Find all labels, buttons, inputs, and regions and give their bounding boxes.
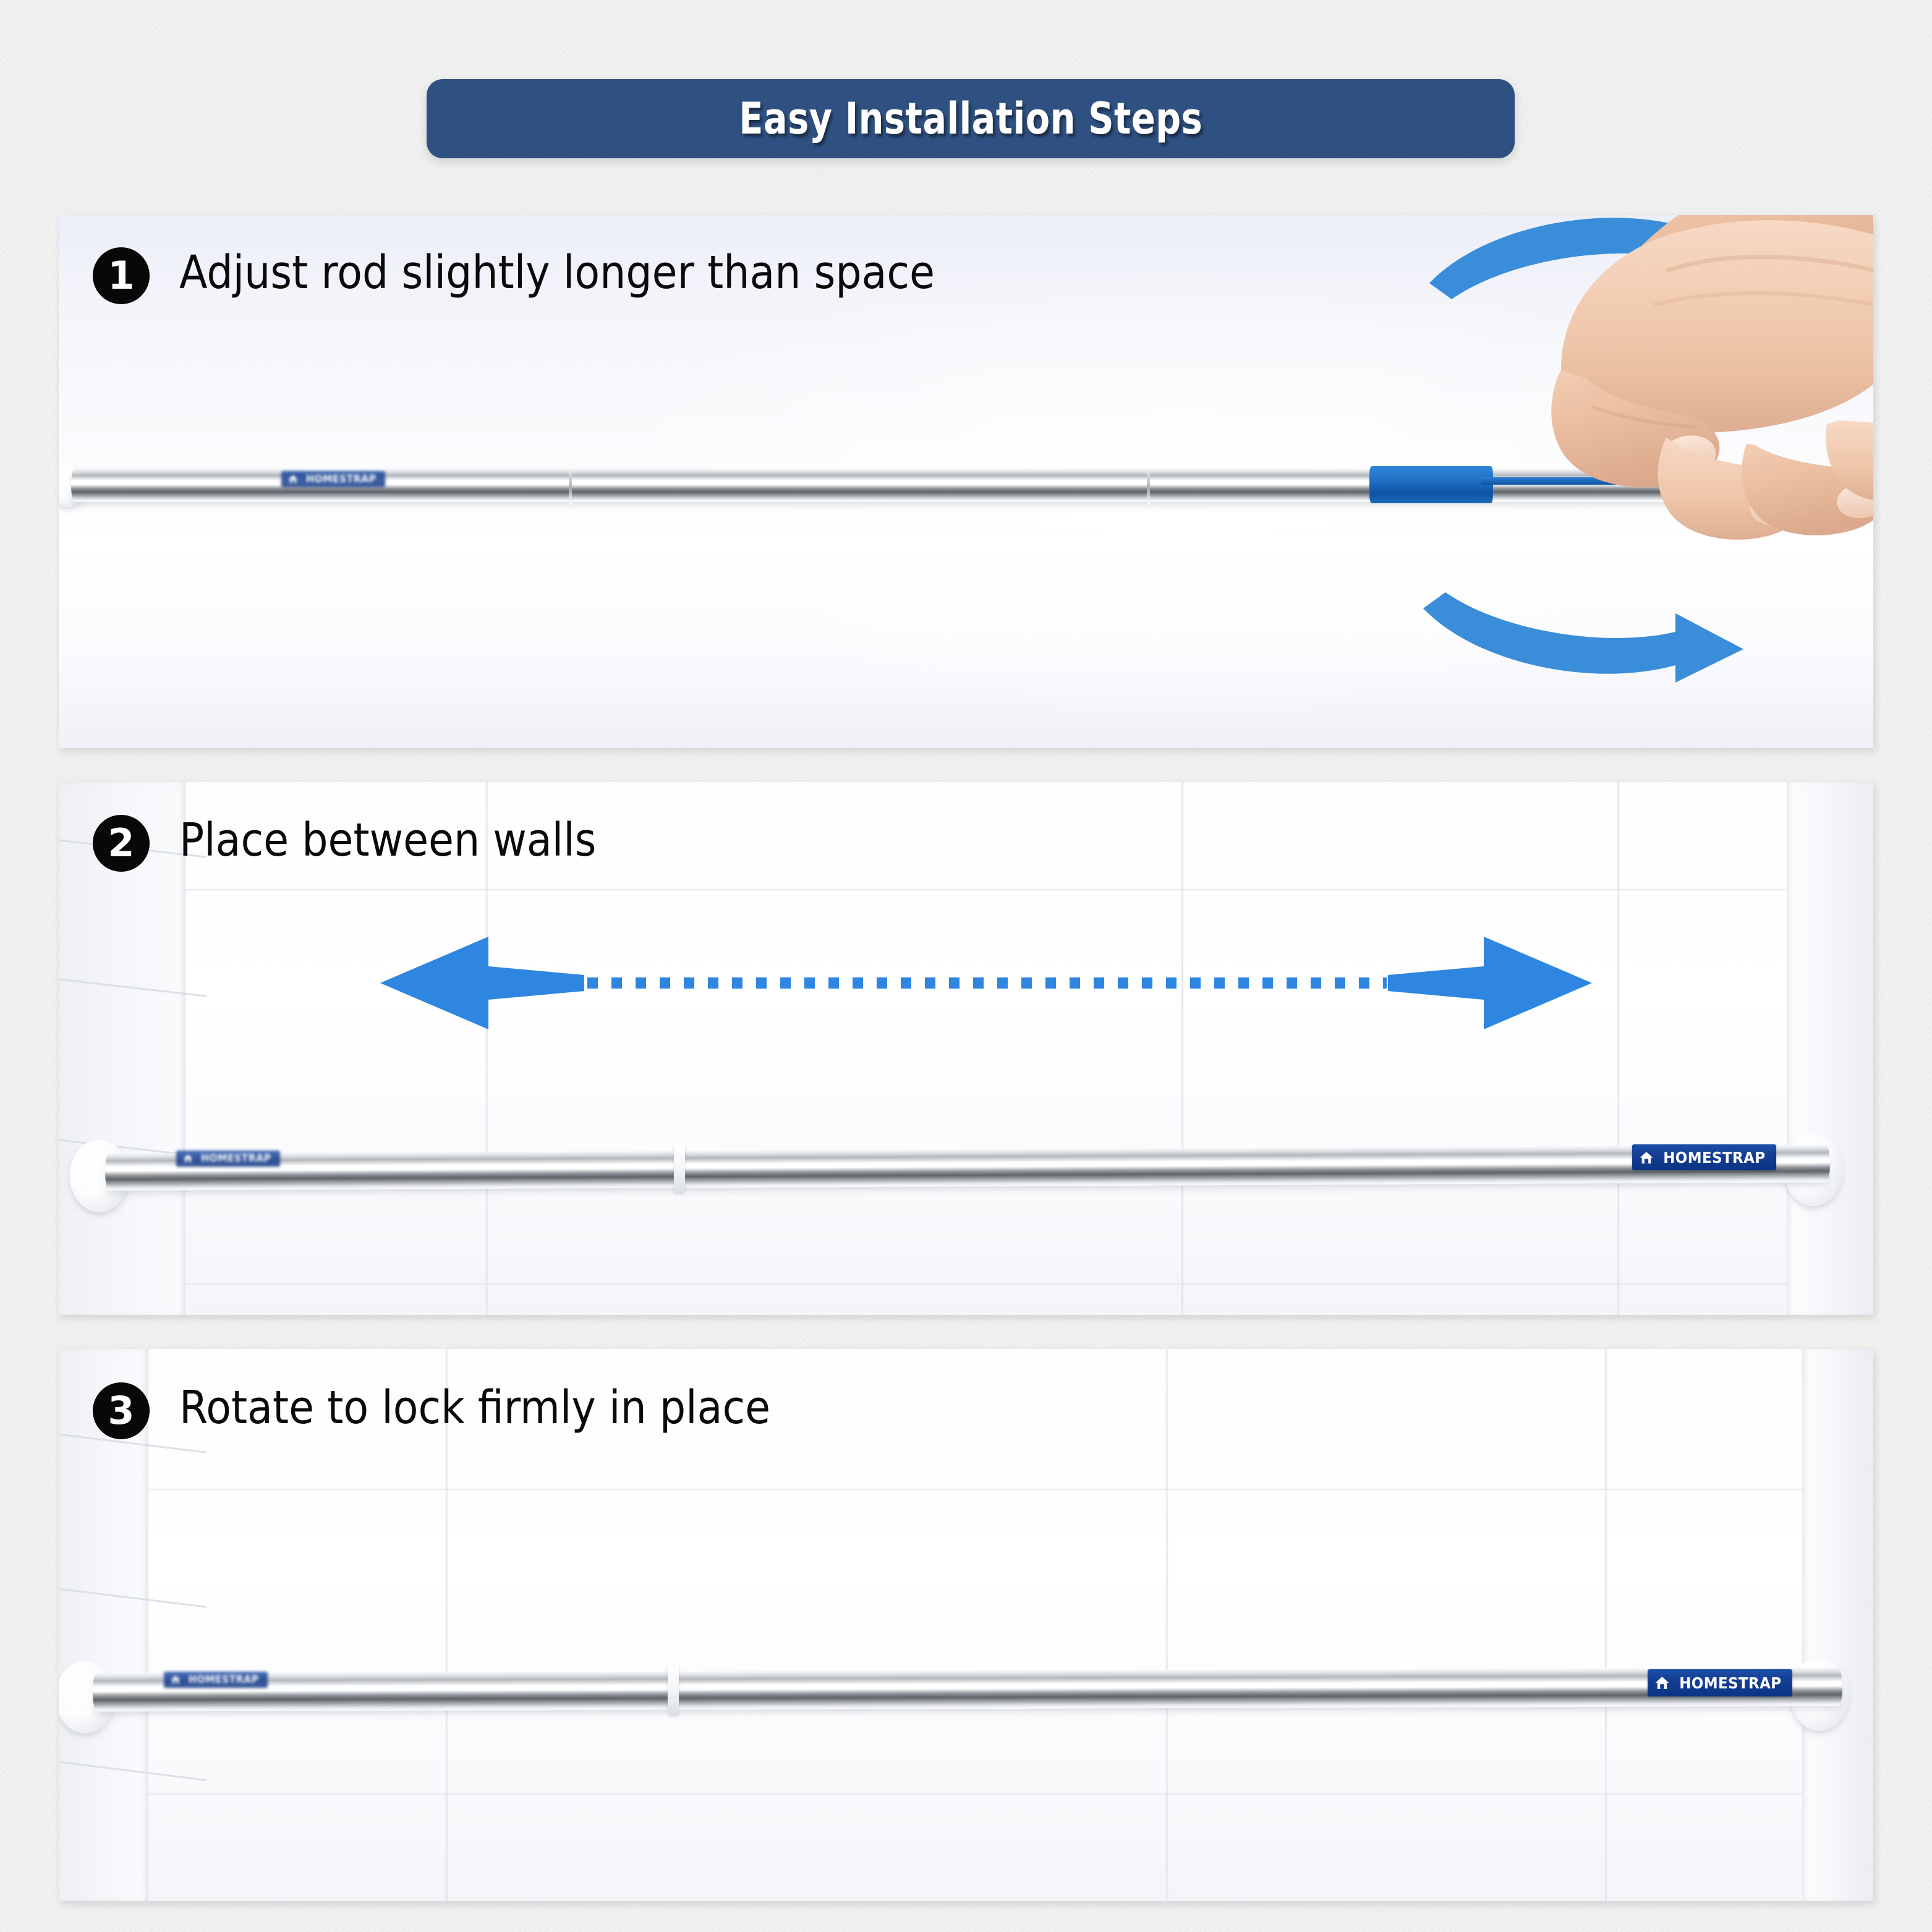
rod-clip-ring (668, 1666, 679, 1715)
step-label-3: Rotate to lock firmly in place (179, 1381, 770, 1434)
tile-grout-line (59, 888, 1873, 891)
house-icon (287, 474, 299, 484)
rod-tube (93, 1668, 1842, 1712)
rotate-arrow-bottom-icon (1410, 586, 1756, 704)
rotate-arrow-top-icon (1416, 215, 1762, 308)
brand-label-homestrap: HOMESTRAP (164, 1672, 268, 1688)
house-icon (1638, 1151, 1654, 1165)
step-number-1: 1 (108, 257, 134, 295)
side-wall-line (59, 977, 206, 997)
rod-grip-seam (1481, 477, 1635, 485)
brand-label-homestrap: HOMESTRAP (1632, 1144, 1776, 1170)
width-arrow-icon (380, 937, 1592, 1029)
rod-clip-ring (674, 1144, 685, 1193)
tile-grout-line (1181, 782, 1184, 1315)
page-title: Easy Installation Steps (739, 93, 1202, 144)
tile-grout-line (1617, 782, 1620, 1315)
house-icon (1654, 1675, 1670, 1690)
brand-label-text: HOMESTRAP (201, 1152, 271, 1165)
rod-grip-sleeve (1369, 466, 1493, 503)
brand-label-text: HOMESTRAP (189, 1674, 258, 1686)
tile-grout-line (59, 1488, 1873, 1491)
side-wall-right (1787, 782, 1873, 1315)
brand-label-text: HOMESTRAP (306, 473, 376, 485)
rod-joint-2 (1147, 466, 1150, 504)
tile-grout-line (1165, 1349, 1168, 1901)
step-badge-1: 1 (93, 247, 150, 304)
step-number-3: 3 (108, 1392, 134, 1430)
brand-label-homestrap: HOMESTRAP (176, 1151, 280, 1167)
brand-label-text: HOMESTRAP (1663, 1149, 1765, 1167)
step-label-2: Place between walls (179, 814, 596, 867)
tile-grout-line (59, 1793, 1873, 1795)
house-icon (182, 1154, 194, 1164)
side-wall-right (1802, 1349, 1873, 1901)
telescopic-rod (93, 1668, 1842, 1712)
house-icon (170, 1675, 181, 1685)
title-banner: Easy Installation Steps (427, 79, 1515, 158)
brand-label-homestrap: HOMESTRAP (281, 471, 385, 487)
step-badge-2: 2 (93, 815, 150, 872)
step-badge-3: 3 (93, 1382, 150, 1439)
brand-label-homestrap: HOMESTRAP (1648, 1669, 1792, 1696)
tile-grout-line (59, 1283, 1873, 1285)
rod-joint-1 (569, 466, 572, 504)
brand-label-text: HOMESTRAP (1679, 1674, 1781, 1692)
tile-grout-line (1604, 1349, 1607, 1901)
step-number-2: 2 (108, 824, 134, 862)
step-label-1: Adjust rod slightly longer than space (179, 246, 935, 299)
